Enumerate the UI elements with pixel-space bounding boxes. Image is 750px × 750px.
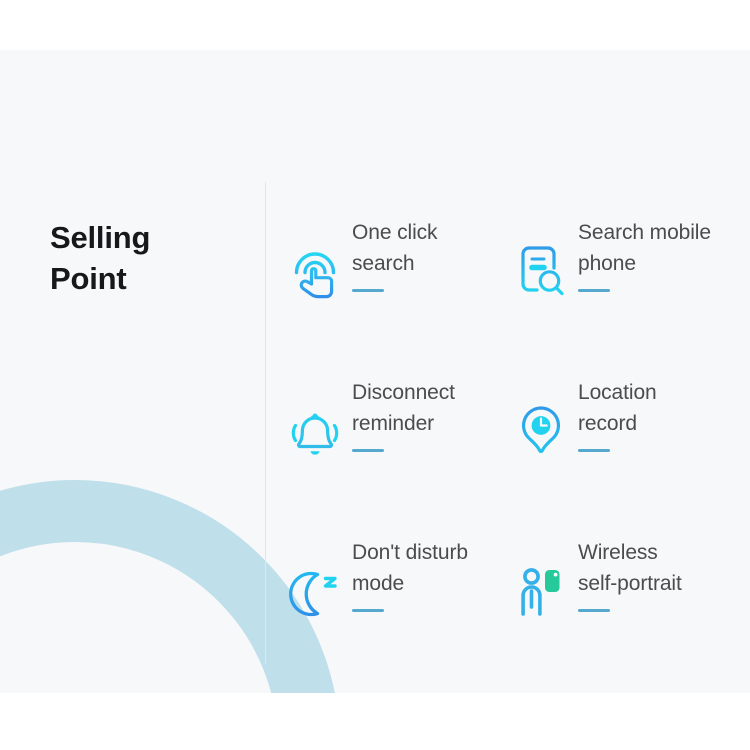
vertical-divider xyxy=(265,182,266,664)
feature-row: Disconnect reminder xyxy=(286,376,750,536)
feature-underline xyxy=(578,609,610,612)
feature-label: Location record xyxy=(578,378,657,439)
product-feature-panel: Selling Point xyxy=(0,0,750,750)
feature-label: Wireless self-portrait xyxy=(578,538,682,599)
feature-label: Don't disturb mode xyxy=(352,538,468,599)
feature-text-block: Disconnect reminder xyxy=(344,376,455,452)
feature-text-block: Wireless self-portrait xyxy=(570,536,682,612)
feature-item-one-click-search: One click search xyxy=(286,216,512,376)
feature-grid: One click search xyxy=(286,216,750,693)
moon-sleep-icon xyxy=(286,558,344,630)
feature-underline xyxy=(578,449,610,452)
feature-underline xyxy=(578,289,610,292)
tap-search-icon xyxy=(286,238,344,310)
location-pin-clock-icon xyxy=(512,396,570,468)
feature-underline xyxy=(352,289,384,292)
feature-text-block: Search mobile phone xyxy=(570,216,711,292)
feature-label: Disconnect reminder xyxy=(352,378,455,439)
page-title-line-1: Selling xyxy=(50,218,245,259)
feature-text-block: One click search xyxy=(344,216,437,292)
feature-row: One click search xyxy=(286,216,750,376)
feature-underline xyxy=(352,449,384,452)
feature-label: One click search xyxy=(352,218,437,279)
content-panel: Selling Point xyxy=(0,50,750,693)
feature-item-wireless-self-portrait: Wireless self-portrait xyxy=(512,536,750,693)
person-phone-icon xyxy=(512,556,570,628)
feature-row: Don't disturb mode xyxy=(286,536,750,693)
page-title-line-2: Point xyxy=(50,259,245,300)
phone-search-icon xyxy=(512,236,570,308)
ringing-bell-icon xyxy=(286,398,344,470)
feature-label: Search mobile phone xyxy=(578,218,711,279)
feature-item-location-record: Location record xyxy=(512,376,750,536)
feature-item-disconnect-reminder: Disconnect reminder xyxy=(286,376,512,536)
page-title: Selling Point xyxy=(50,218,245,300)
feature-underline xyxy=(352,609,384,612)
feature-item-search-mobile-phone: Search mobile phone xyxy=(512,216,750,376)
feature-text-block: Don't disturb mode xyxy=(344,536,468,612)
feature-item-dont-disturb-mode: Don't disturb mode xyxy=(286,536,512,693)
feature-text-block: Location record xyxy=(570,376,657,452)
